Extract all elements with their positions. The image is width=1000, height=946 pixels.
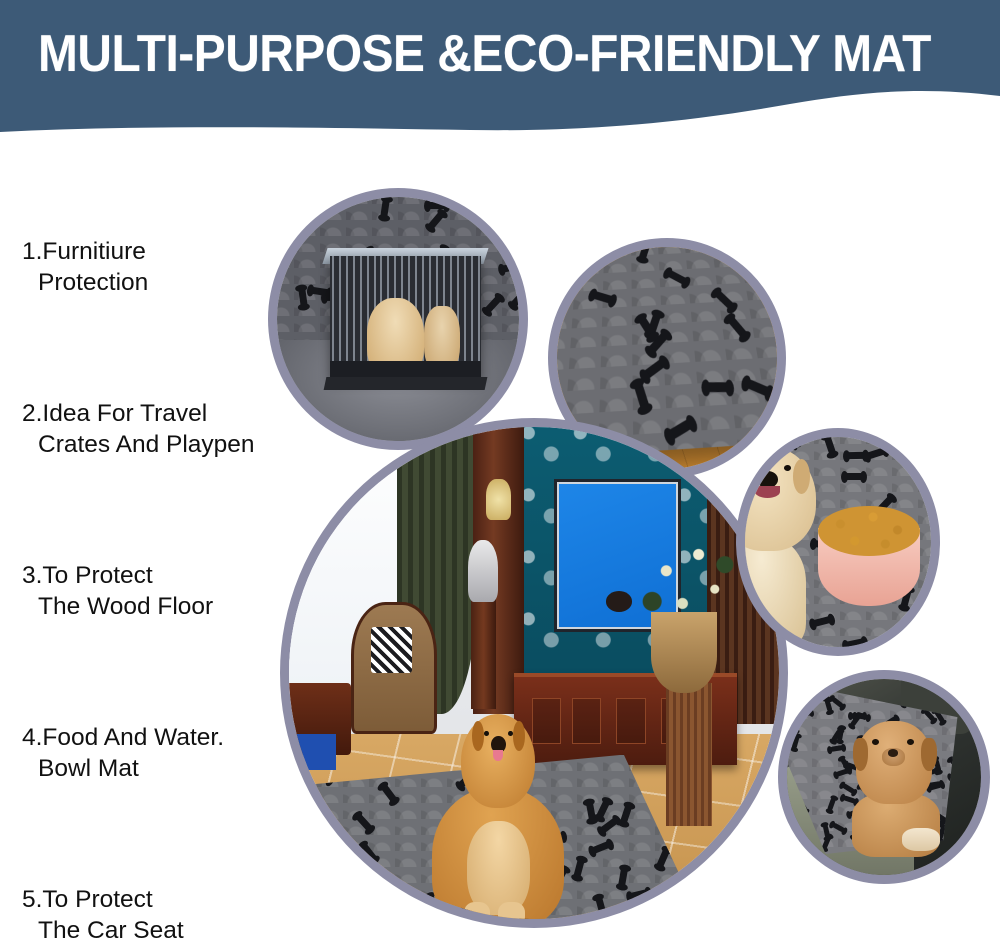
bone-pattern-motif bbox=[360, 843, 378, 863]
bowl-dog-left-eye bbox=[745, 465, 753, 471]
puppy-right-ear bbox=[921, 738, 936, 771]
dog-right-paw bbox=[498, 902, 524, 928]
bone-pattern-motif bbox=[557, 238, 576, 240]
bone-pattern-motif bbox=[590, 840, 611, 854]
bone-pattern-motif bbox=[641, 357, 666, 380]
dog-head bbox=[461, 714, 535, 808]
bone-pattern-motif bbox=[501, 263, 522, 274]
bone-pattern-motif bbox=[363, 926, 380, 928]
bone-pattern-motif bbox=[427, 211, 445, 231]
room-pedestal bbox=[471, 597, 496, 709]
bone-pattern-motif bbox=[832, 822, 846, 833]
bone-pattern-motif bbox=[752, 240, 774, 254]
dog-right-ear bbox=[513, 721, 525, 751]
crate-base-frame bbox=[324, 377, 488, 390]
puppy-left-ear bbox=[853, 738, 868, 771]
page-title: MULTI-PURPOSE &ECO-FRIENDLY MAT bbox=[38, 24, 931, 84]
puppy-on-car-mat bbox=[850, 721, 943, 854]
bone-pattern-motif bbox=[427, 202, 447, 209]
living-room-scene bbox=[280, 418, 788, 928]
bone-pattern-motif bbox=[573, 858, 585, 879]
bone-pattern-motif bbox=[633, 381, 650, 411]
photo-collage bbox=[250, 180, 1000, 946]
bone-pattern-motif bbox=[510, 289, 528, 309]
credenza-drawer bbox=[616, 698, 645, 744]
crate-bar bbox=[339, 256, 341, 377]
bone-pattern-motif bbox=[329, 858, 349, 876]
feature-4-line-1: 4.Food And Water. bbox=[0, 722, 282, 753]
bone-pattern-motif bbox=[628, 888, 649, 899]
feature-2-line-2: Crates And Playpen bbox=[0, 429, 282, 460]
crate-bar bbox=[353, 256, 355, 377]
bone-pattern-motif bbox=[591, 291, 615, 305]
bone-pattern-motif bbox=[704, 382, 730, 392]
crate-bar bbox=[464, 256, 466, 377]
feature-item-1: 1.Furnitiure Protection bbox=[0, 236, 282, 298]
bone-pattern-motif bbox=[656, 848, 670, 869]
feature-item-5: 5.To Protect The Car Seat bbox=[0, 884, 282, 946]
room-flower-arrangement bbox=[636, 530, 738, 632]
dog-tongue bbox=[493, 750, 503, 761]
room-wall-lamp bbox=[486, 479, 511, 520]
feature-1-line-2: Protection bbox=[0, 267, 282, 298]
crate-bar bbox=[471, 256, 473, 377]
bone-pattern-motif bbox=[354, 812, 373, 832]
dog-left-ear bbox=[472, 721, 484, 751]
credenza-drawer bbox=[572, 698, 601, 744]
bone-pattern-motif bbox=[380, 784, 398, 804]
bone-pattern-motif bbox=[713, 289, 735, 310]
room-armchair-pillow bbox=[371, 627, 412, 673]
bone-pattern-motif bbox=[484, 295, 503, 314]
feature-3-line-2: The Wood Floor bbox=[0, 591, 282, 622]
bone-pattern-motif bbox=[744, 378, 771, 398]
feature-5-line-1: 5.To Protect bbox=[0, 884, 282, 915]
photo-circle-car-seat bbox=[778, 670, 990, 884]
feature-3-line-1: 3.To Protect bbox=[0, 560, 282, 591]
feature-2-line-1: 2.Idea For Travel bbox=[0, 398, 282, 429]
feature-5-line-2: The Car Seat bbox=[0, 915, 282, 946]
bone-pattern-motif bbox=[310, 287, 331, 297]
crate-scene bbox=[268, 188, 528, 450]
dog-chest bbox=[467, 821, 530, 915]
car-seat-scene bbox=[778, 670, 990, 884]
bone-pattern-motif bbox=[595, 799, 610, 820]
feature-4-line-2: Bowl Mat bbox=[0, 753, 282, 784]
photo-circle-living-room bbox=[280, 418, 788, 928]
feature-1-line-1: 1.Furnitiure bbox=[0, 236, 282, 267]
crate-bar bbox=[478, 256, 480, 377]
golden-retriever-on-mat bbox=[432, 714, 564, 928]
food-bowl-scene bbox=[736, 428, 940, 656]
puppy-right-eye bbox=[907, 739, 914, 745]
bone-pattern-motif bbox=[865, 447, 886, 460]
feature-item-4: 4.Food And Water. Bowl Mat bbox=[0, 722, 282, 784]
bone-pattern-motif bbox=[827, 798, 836, 812]
bone-pattern-motif bbox=[583, 919, 597, 928]
puppy-left-eye bbox=[872, 739, 879, 745]
tv-screen-object bbox=[606, 591, 633, 612]
bone-pattern-motif bbox=[595, 896, 607, 917]
infographic-page: MULTI-PURPOSE &ECO-FRIENDLY MAT 1.Furnit… bbox=[0, 0, 1000, 946]
dog-left-paw bbox=[464, 902, 490, 928]
bone-pattern-motif bbox=[638, 240, 651, 261]
bone-pattern-motif bbox=[380, 199, 390, 220]
crate-bar bbox=[346, 256, 348, 377]
room-blue-floor-object bbox=[280, 734, 336, 770]
bone-pattern-motif bbox=[296, 925, 309, 928]
bone-pattern-motif bbox=[315, 805, 327, 826]
header-banner: MULTI-PURPOSE &ECO-FRIENDLY MAT bbox=[0, 0, 1000, 140]
bowl-dog-chest bbox=[736, 539, 806, 647]
bone-pattern-motif bbox=[831, 697, 844, 709]
room-marble-bust bbox=[468, 540, 498, 601]
feature-list: 1.Furnitiure Protection 2.Idea For Trave… bbox=[0, 236, 282, 946]
room-column-plinth bbox=[666, 683, 712, 826]
feature-item-2: 2.Idea For Travel Crates And Playpen bbox=[0, 398, 282, 460]
dog-left-eye bbox=[484, 731, 489, 737]
golden-retriever-beside-bowl bbox=[736, 446, 834, 647]
bone-pattern-motif bbox=[618, 867, 628, 888]
bone-pattern-motif bbox=[586, 801, 596, 822]
puppy-paws bbox=[902, 828, 939, 852]
bowl-dog-head bbox=[736, 446, 816, 550]
bone-pattern-motif bbox=[665, 268, 688, 285]
bowl-dog-right-ear bbox=[793, 459, 810, 494]
puppy-head bbox=[856, 721, 932, 803]
crate-bar bbox=[332, 256, 334, 377]
photo-circle-food-bowl bbox=[736, 428, 940, 656]
crate-bar bbox=[360, 256, 362, 377]
bowl-dog-mouth bbox=[755, 486, 780, 499]
bone-pattern-motif bbox=[296, 911, 307, 928]
bone-pattern-motif bbox=[280, 859, 284, 872]
photo-circle-dog-crate bbox=[268, 188, 528, 450]
bone-pattern-motif bbox=[844, 638, 865, 649]
bone-pattern-motif bbox=[830, 745, 844, 752]
bowl-dog-right-eye bbox=[784, 465, 792, 471]
bone-pattern-motif bbox=[844, 473, 864, 480]
puppy-nose bbox=[888, 749, 899, 756]
feature-item-3: 3.To Protect The Wood Floor bbox=[0, 560, 282, 622]
bone-pattern-motif bbox=[726, 315, 748, 339]
